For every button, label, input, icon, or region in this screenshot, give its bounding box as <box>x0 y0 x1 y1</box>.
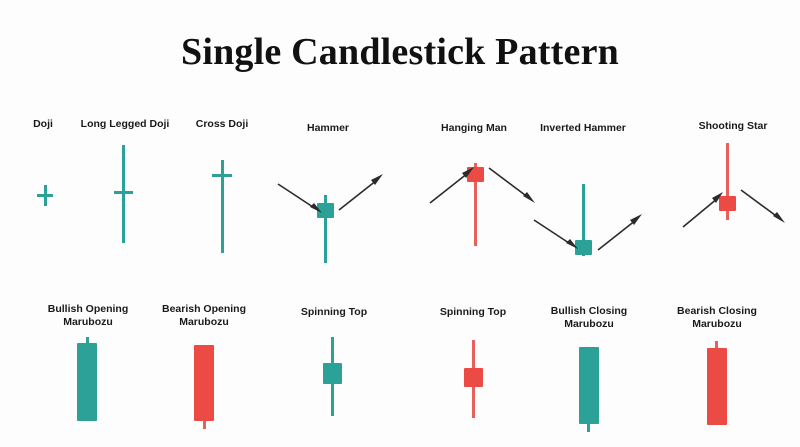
spinning-top-bearish-body <box>464 368 483 387</box>
cross-doji-crossbar <box>212 174 232 177</box>
pattern-label-cross-doji: Cross Doji <box>178 118 266 131</box>
candlestick-pattern-chart: Single Candlestick Pattern Doji Long Leg… <box>0 0 800 447</box>
bullish-closing-marubozu-body <box>579 347 599 424</box>
shooting-star-arrow-left <box>681 190 725 230</box>
long-legged-doji-wick <box>122 145 125 243</box>
bullish-opening-marubozu-body <box>77 343 97 421</box>
pattern-label-doji: Doji <box>8 118 78 131</box>
long-legged-doji-crossbar <box>114 191 133 194</box>
pattern-label-inverted-hammer: Inverted Hammer <box>528 122 638 135</box>
hammer-arrow-left <box>276 182 324 214</box>
hanging-man-arrow-left <box>428 165 476 205</box>
pattern-label-bearish-opening-marubozu: Bearish Opening Marubozu <box>152 303 256 329</box>
pattern-label-bullish-opening-marubozu: Bullish Opening Marubozu <box>36 303 140 329</box>
inverted-hammer-arrow-left <box>532 218 580 250</box>
hanging-man-arrow-right <box>487 166 537 206</box>
shooting-star-arrow-right <box>739 188 787 228</box>
pattern-label-hanging-man: Hanging Man <box>426 122 522 135</box>
page-title: Single Candlestick Pattern <box>0 30 800 74</box>
hammer-arrow-right <box>337 172 385 212</box>
spinning-top-bullish-body <box>323 363 342 384</box>
doji-crossbar <box>37 194 53 197</box>
inverted-hammer-arrow-right <box>596 212 644 252</box>
bearish-closing-marubozu-body <box>707 348 727 425</box>
pattern-label-bullish-closing-marubozu: Bullish Closing Marubozu <box>537 305 641 331</box>
pattern-label-bearish-closing-marubozu: Bearish Closing Marubozu <box>665 305 769 331</box>
pattern-label-spinning-top-bearish: Spinning Top <box>427 306 519 319</box>
pattern-label-hammer: Hammer <box>285 122 371 135</box>
pattern-label-long-legged-doji: Long Legged Doji <box>73 118 177 131</box>
pattern-label-shooting-star: Shooting Star <box>680 120 786 133</box>
pattern-label-spinning-top-bullish: Spinning Top <box>288 306 380 319</box>
bearish-opening-marubozu-body <box>194 345 214 421</box>
